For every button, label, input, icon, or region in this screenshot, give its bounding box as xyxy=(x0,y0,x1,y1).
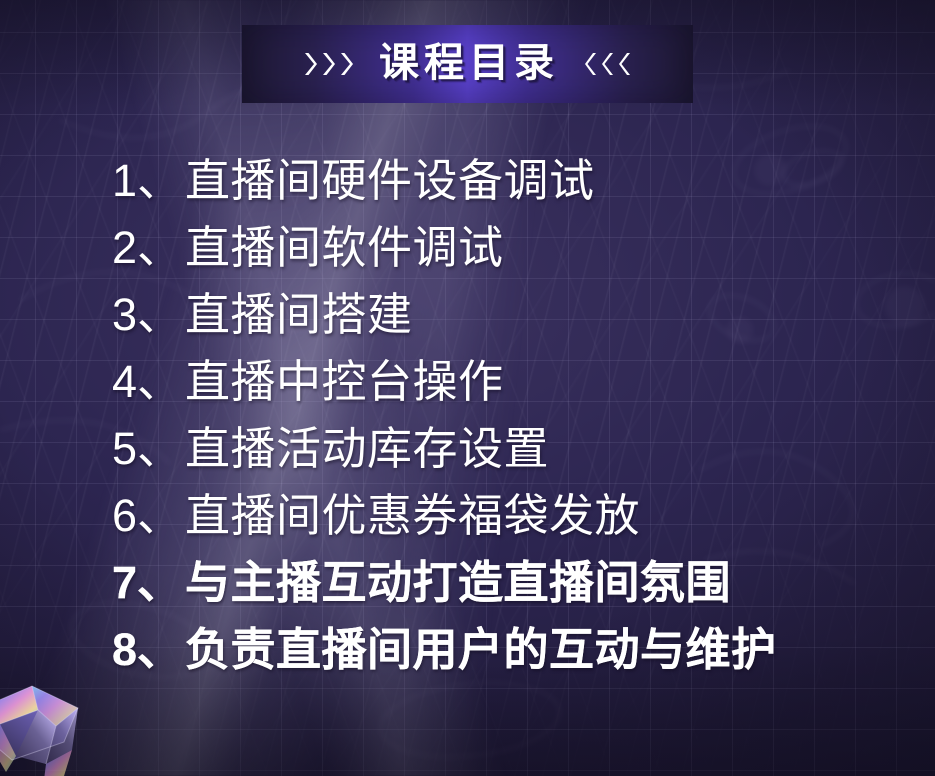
toc-item-number: 7、 xyxy=(112,560,182,605)
toc-item: 5、 直播活动库存设置 xyxy=(112,426,922,493)
slide-root: 课程目录 1、 直播间硬件设备调试 2、 直播间软件调试 3、 直播间搭建 4、… xyxy=(0,0,935,776)
toc-item-number: 4、 xyxy=(112,359,182,404)
toc-item-number: 1、 xyxy=(112,158,182,203)
iridescent-crystal-icon xyxy=(0,664,114,776)
page-title: 课程目录 xyxy=(379,43,559,85)
toc-item-number: 6、 xyxy=(112,493,182,538)
toc-item-number: 5、 xyxy=(112,426,182,471)
toc-item: 6、 直播间优惠券福袋发放 xyxy=(112,493,922,560)
toc-item-label: 直播间硬件设备调试 xyxy=(185,158,595,203)
toc-item: 7、 与主播互动打造直播间氛围 xyxy=(112,560,922,627)
toc-item: 8、 负责直播间用户的互动与维护 xyxy=(112,627,922,694)
chevrons-right-icon xyxy=(304,51,353,77)
toc-item: 2、 直播间软件调试 xyxy=(112,225,922,292)
toc-item-number: 8、 xyxy=(112,627,182,672)
toc-item: 4、 直播中控台操作 xyxy=(112,359,922,426)
toc-item-number: 3、 xyxy=(112,292,182,337)
toc-item-label: 负责直播间用户的互动与维护 xyxy=(185,627,777,672)
toc-item-label: 直播间搭建 xyxy=(185,292,413,337)
toc-item: 1、 直播间硬件设备调试 xyxy=(112,158,922,225)
title-banner: 课程目录 xyxy=(242,25,693,103)
toc-item-label: 直播活动库存设置 xyxy=(185,426,549,471)
toc-item-label: 与主播互动打造直播间氛围 xyxy=(185,560,731,605)
toc-item-label: 直播中控台操作 xyxy=(185,359,504,404)
toc-item-label: 直播间软件调试 xyxy=(185,225,504,270)
toc-item: 3、 直播间搭建 xyxy=(112,292,922,359)
chevrons-left-icon xyxy=(585,51,631,77)
toc-item-label: 直播间优惠券福袋发放 xyxy=(185,493,640,538)
toc-list: 1、 直播间硬件设备调试 2、 直播间软件调试 3、 直播间搭建 4、 直播中控… xyxy=(112,158,922,694)
toc-item-number: 2、 xyxy=(112,225,182,270)
